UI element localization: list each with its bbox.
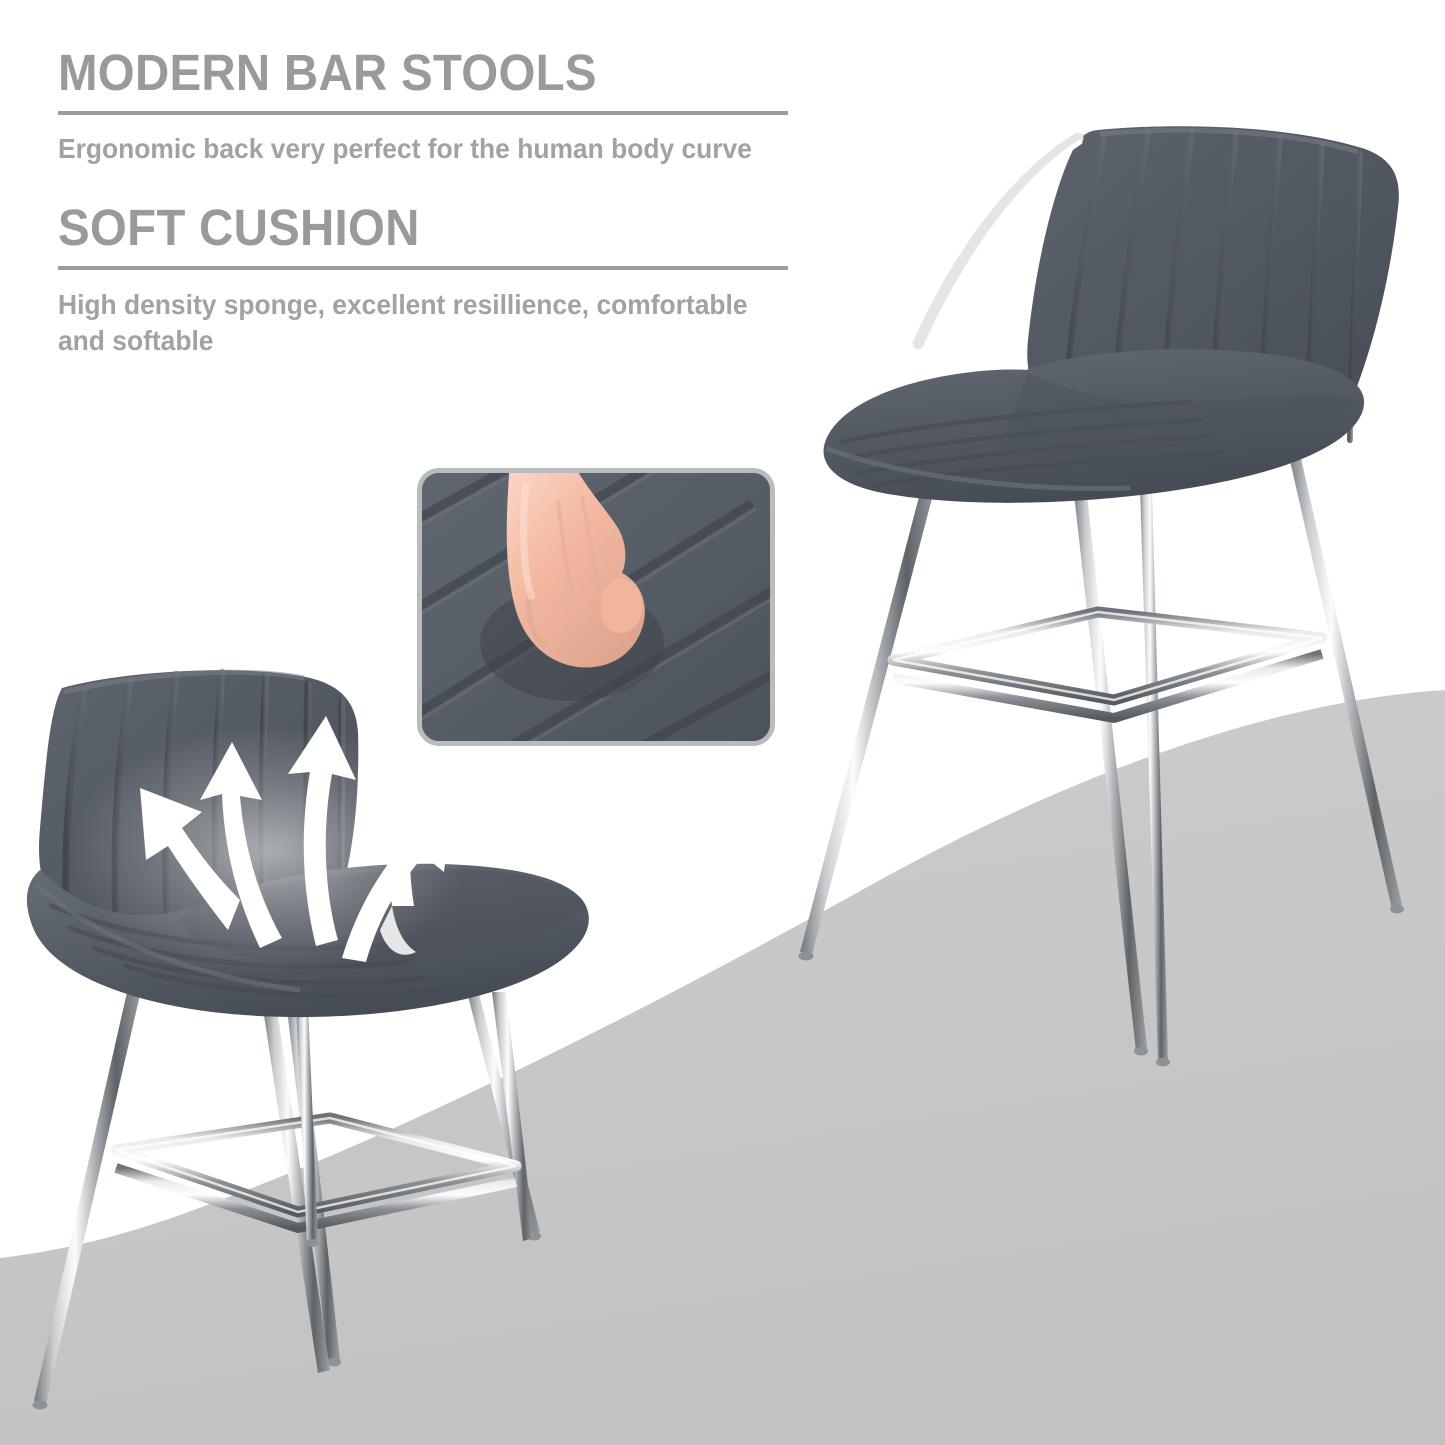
cushion-press-photo-panel <box>417 468 775 746</box>
subtext-ergonomic-back: Ergonomic back very perfect for the huma… <box>58 131 773 167</box>
copy-block: MODERN BAR STOOLS Ergonomic back very pe… <box>58 46 803 359</box>
heading-rule-1 <box>58 111 788 115</box>
heading-rule-2 <box>58 266 788 270</box>
heading-soft-cushion: SOFT CUSHION <box>58 201 751 255</box>
infographic-canvas: MODERN BAR STOOLS Ergonomic back very pe… <box>0 0 1445 1445</box>
subtext-high-density-sponge: High density sponge, excellent resillien… <box>58 287 773 359</box>
heading-modern-bar-stools: MODERN BAR STOOLS <box>58 46 751 100</box>
cushion-press-illustration <box>422 473 770 741</box>
